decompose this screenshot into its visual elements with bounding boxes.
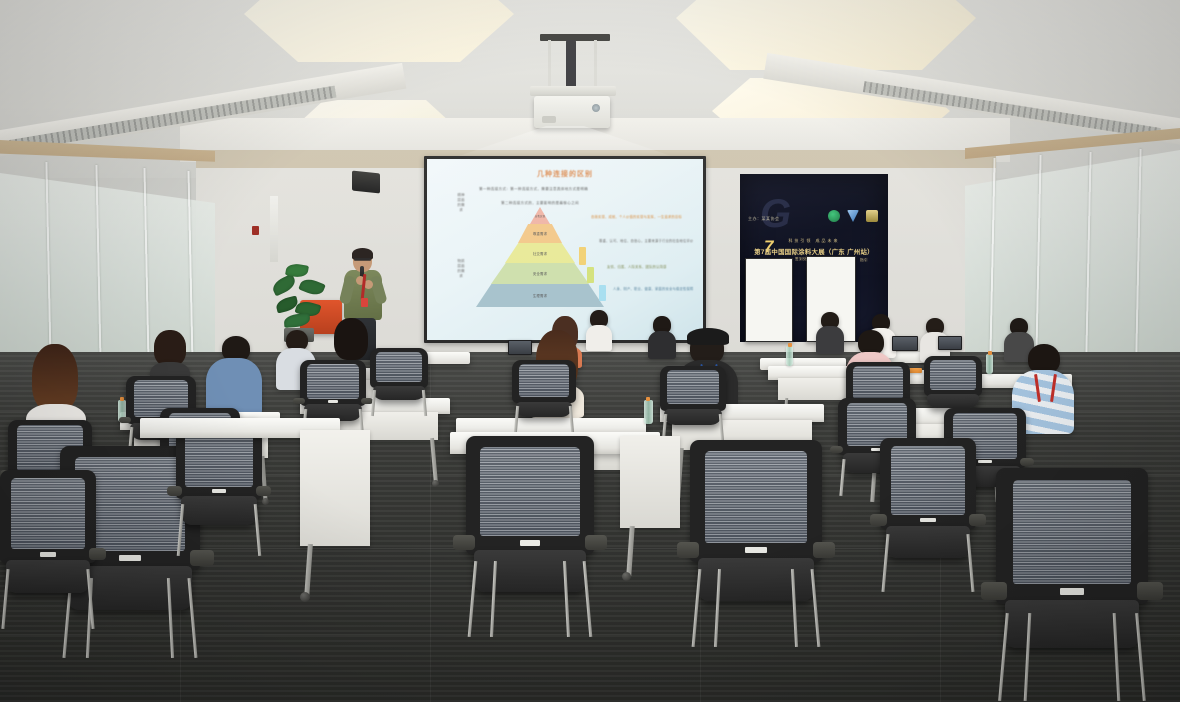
training-room-photo: 几种连接的区别 第一种连接方式：第一种连接方式，需要注意具体地方式是明确 第二种… bbox=[0, 0, 1180, 702]
wall-speaker bbox=[352, 171, 380, 194]
desk-side-panel bbox=[300, 430, 370, 546]
projector-mount-pole bbox=[594, 40, 597, 90]
desk-side-panel bbox=[620, 436, 680, 528]
chair bbox=[0, 470, 96, 620]
slide-text-line-1: 第一种连接方式：第一种连接方式，需要注意具体地方式是明确 bbox=[479, 187, 588, 192]
flipchart-left bbox=[745, 258, 793, 342]
chair bbox=[660, 366, 726, 438]
projector bbox=[534, 96, 610, 128]
banner-headline: 第7届中国国际涂料大展（广东 广州站） bbox=[740, 247, 888, 256]
eyeglasses-icon bbox=[354, 258, 371, 261]
ceiling-light-panel-1 bbox=[244, 0, 514, 62]
slide-note-3: 友情、归属、人际关系、团队的认同感 bbox=[607, 265, 695, 270]
pyramid-tier-1: 自我实现 bbox=[530, 207, 550, 224]
laptop bbox=[892, 336, 918, 351]
laptop bbox=[508, 340, 532, 355]
presenter-badge bbox=[361, 298, 368, 307]
flipchart-label-right: 指引 bbox=[860, 258, 868, 263]
water-bottle bbox=[644, 400, 653, 424]
slide-tag-1 bbox=[579, 247, 586, 265]
projector-mount-bracket bbox=[566, 40, 576, 88]
wall-pillar-strip bbox=[270, 196, 278, 262]
slide-tag-2 bbox=[587, 267, 594, 283]
attendee bbox=[648, 316, 676, 360]
slide-tag-3 bbox=[599, 285, 606, 301]
pyramid-tier-2: 尊重需求 bbox=[518, 224, 562, 243]
banner-sponsor-logos bbox=[828, 210, 878, 222]
chair bbox=[512, 360, 576, 430]
projection-screen: 几种连接的区别 第一种连接方式：第一种连接方式，需要注意具体地方式是明确 第二种… bbox=[424, 156, 706, 343]
chair bbox=[466, 436, 594, 626]
banner-watermark-logo: G bbox=[760, 192, 788, 237]
slide-note-1: 自我实现、成就、个人价值的实现与发挥，一生追求的目标 bbox=[591, 215, 687, 220]
attendee bbox=[586, 310, 612, 350]
water-bottle bbox=[986, 354, 993, 374]
pyramid-tier-5: 生理需求 bbox=[476, 284, 604, 307]
pyramid-tier-4: 安全需求 bbox=[491, 263, 589, 284]
slide-note-2: 尊重、认可、地位、自信心，主要来源于行业的社会地位评价 bbox=[599, 239, 695, 244]
slide-axis-upper: 精神层面的需求 bbox=[457, 193, 465, 213]
ceiling-light-panel-2 bbox=[676, 0, 976, 70]
emergency-sign-icon bbox=[252, 226, 259, 235]
screen-surface: 几种连接的区别 第一种连接方式：第一种连接方式，需要注意具体地方式是明确 第二种… bbox=[427, 159, 703, 340]
banner-organizer-text: 主办：某某协会 bbox=[748, 216, 780, 222]
projector-mount-pole bbox=[548, 40, 551, 90]
laptop bbox=[938, 336, 962, 350]
banner-tagline: 科技引领 成品未来 bbox=[740, 238, 888, 244]
chair bbox=[996, 468, 1148, 688]
baseball-cap bbox=[687, 328, 729, 345]
sponsor-logo-icon-1 bbox=[828, 210, 840, 222]
projector-mount-plate bbox=[530, 86, 616, 96]
sponsor-logo-icon-3 bbox=[866, 210, 878, 222]
attendee bbox=[816, 312, 844, 356]
pyramid-tier-3: 社交需求 bbox=[505, 243, 575, 263]
sponsor-logo-icon-2 bbox=[847, 210, 859, 222]
slide-title: 几种连接的区别 bbox=[427, 169, 703, 179]
flipchart-label-center: 签到处 bbox=[795, 257, 807, 262]
potted-plant bbox=[268, 258, 330, 340]
slide-note-4: 人身、财产、职业、健康、家庭的安全与稳定性保障 bbox=[613, 287, 697, 292]
water-bottle bbox=[786, 346, 793, 366]
chair bbox=[370, 348, 428, 412]
chair bbox=[880, 438, 976, 584]
chair bbox=[690, 440, 822, 636]
attendee bbox=[332, 318, 372, 368]
slide-text-line-2: 第二种连接方式的，主要影响的是最核心之间 bbox=[501, 201, 579, 206]
slide-axis-lower: 物质层面的需求 bbox=[457, 259, 465, 279]
wood-trim-top-left bbox=[0, 140, 215, 174]
